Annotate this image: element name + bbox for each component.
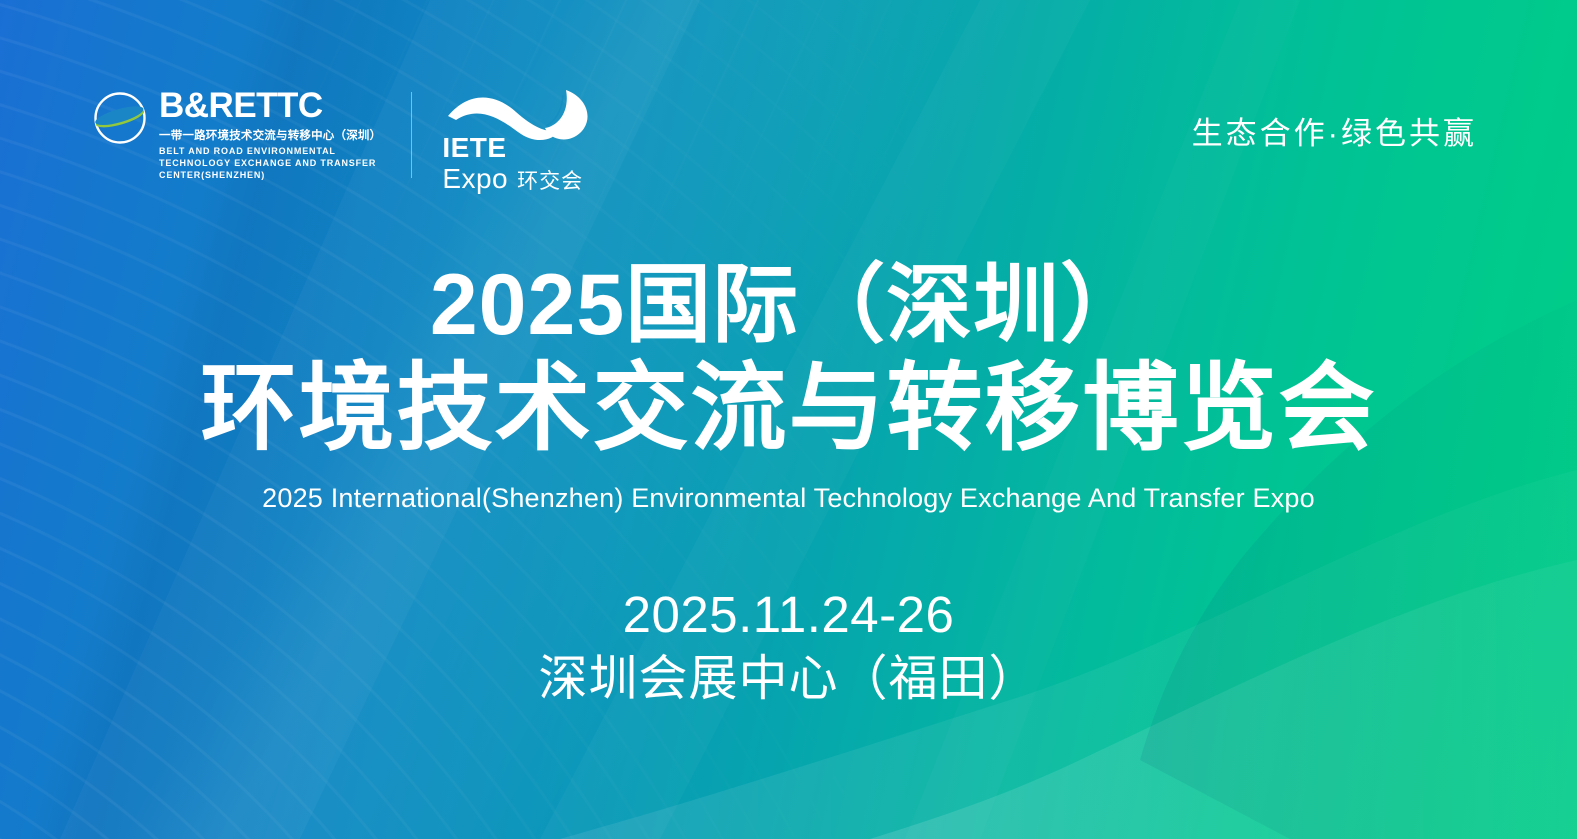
brettc-name-en-line1: BELT AND ROAD ENVIRONMENTAL <box>159 145 381 157</box>
brettc-name-cn: 一带一路环境技术交流与转移中心（深圳） <box>159 127 381 143</box>
banner-slogan: 生态合作·绿色共赢 <box>1192 108 1477 153</box>
event-venue: 深圳会展中心（福田） <box>0 650 1577 709</box>
brettc-wordmark: B&RETTC <box>159 88 381 123</box>
globe-band-icon <box>92 90 148 146</box>
date-venue-block: 2025.11.24-26 深圳会展中心（福田） <box>0 586 1577 709</box>
iete-line2-row: Expo 环交会 <box>442 165 583 193</box>
logo-brettc: B&RETTC 一带一路环境技术交流与转移中心（深圳） BELT AND ROA… <box>92 88 381 181</box>
iete-wordmark: IETE Expo 环交会 <box>442 134 583 193</box>
brettc-name-en: BELT AND ROAD ENVIRONMENTAL TECHNOLOGY E… <box>159 145 381 181</box>
title-line-2: 环境技术交流与转移博览会 <box>0 355 1577 463</box>
iete-line2-cn: 环交会 <box>517 171 583 192</box>
brettc-name-en-line2: TECHNOLOGY EXCHANGE AND TRANSFER <box>159 157 381 169</box>
iete-line2: Expo <box>442 165 508 193</box>
brettc-name-en-line3: CENTER(SHENZHEN) <box>159 169 381 181</box>
title-line-1: 2025国际（深圳） <box>0 260 1577 351</box>
iete-line1: IETE <box>442 134 583 162</box>
logo-divider <box>411 92 412 178</box>
logo-iete: IETE Expo 环交会 <box>442 88 602 188</box>
banner-main: 2025国际（深圳） 环境技术交流与转移博览会 2025 Internation… <box>0 260 1577 709</box>
subtitle-english: 2025 International(Shenzhen) Environment… <box>0 483 1577 514</box>
brettc-text-block: B&RETTC 一带一路环境技术交流与转移中心（深圳） BELT AND ROA… <box>159 88 381 181</box>
event-date: 2025.11.24-26 <box>0 586 1577 645</box>
banner-header: B&RETTC 一带一路环境技术交流与转移中心（深圳） BELT AND ROA… <box>0 0 1577 210</box>
event-banner: B&RETTC 一带一路环境技术交流与转移中心（深圳） BELT AND ROA… <box>0 0 1577 839</box>
logo-group: B&RETTC 一带一路环境技术交流与转移中心（深圳） BELT AND ROA… <box>92 88 602 188</box>
